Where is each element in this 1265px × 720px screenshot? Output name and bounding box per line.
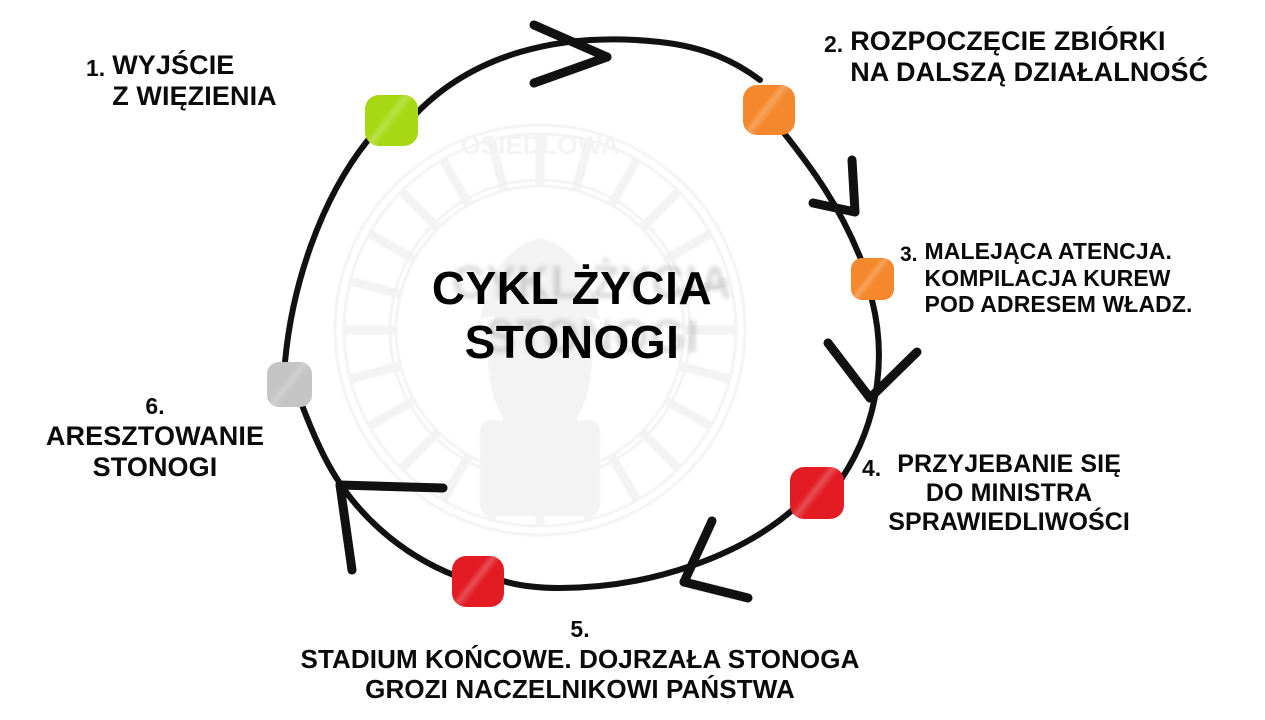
arrowhead-left (340, 485, 443, 570)
step-text-5: STADIUM KOŃCOWE. DOJRZAŁA STONOGA GROZI … (180, 644, 980, 704)
node-gloss (851, 258, 894, 300)
step-text-3: MALEJĄCA ATENCJA. KOMPILACJA KUREW POD A… (925, 238, 1193, 318)
node-gloss (452, 556, 504, 607)
arrowhead-top (534, 25, 607, 83)
step-number-6: 6. (0, 393, 310, 420)
arrowhead-right (828, 343, 917, 398)
step-text-1: WYJŚCIE Z WIĘZIENIA (112, 50, 277, 113)
step-label-3: 3. MALEJĄCA ATENCJA. KOMPILACJA KUREW PO… (900, 238, 1260, 318)
step-text-2: ROZPOCZĘCIE ZBIÓRKI NA DALSZĄ DZIAŁALNOŚ… (850, 26, 1208, 89)
step-number-5: 5. (180, 616, 980, 643)
node-gloss (790, 467, 844, 519)
step-number-4: 4. (862, 450, 881, 482)
step-text-6: ARESZTOWANIE STONOGI (0, 421, 310, 484)
page-title: CYKL ŻYCIA STONOGI (352, 262, 792, 370)
node-gloss (743, 85, 795, 135)
step-label-2: 2. ROZPOCZĘCIE ZBIÓRKI NA DALSZĄ DZIAŁAL… (824, 26, 1264, 89)
step-label-4: 4. PRZYJEBANIE SIĘ DO MINISTRA SPRAWIEDL… (862, 450, 1262, 537)
node-step-2[interactable] (743, 85, 795, 135)
node-step-5[interactable] (452, 556, 504, 607)
step-label-5: 5. STADIUM KOŃCOWE. DOJRZAŁA STONOGA GRO… (180, 616, 980, 704)
node-step-3[interactable] (851, 258, 894, 300)
cycle-diagram-canvas: OSIEDLOWA (0, 0, 1265, 720)
step-number-3: 3. (900, 238, 918, 267)
step-label-1: 1. WYJŚCIE Z WIĘZIENIA (86, 50, 386, 113)
step-label-6: 6. ARESZTOWANIE STONOGI (0, 393, 310, 483)
step-text-4: PRZYJEBANIE SIĘ DO MINISTRA SPRAWIEDLIWO… (888, 450, 1130, 537)
node-step-4[interactable] (790, 467, 844, 519)
step-number-1: 1. (86, 50, 105, 82)
step-number-2: 2. (824, 26, 843, 58)
